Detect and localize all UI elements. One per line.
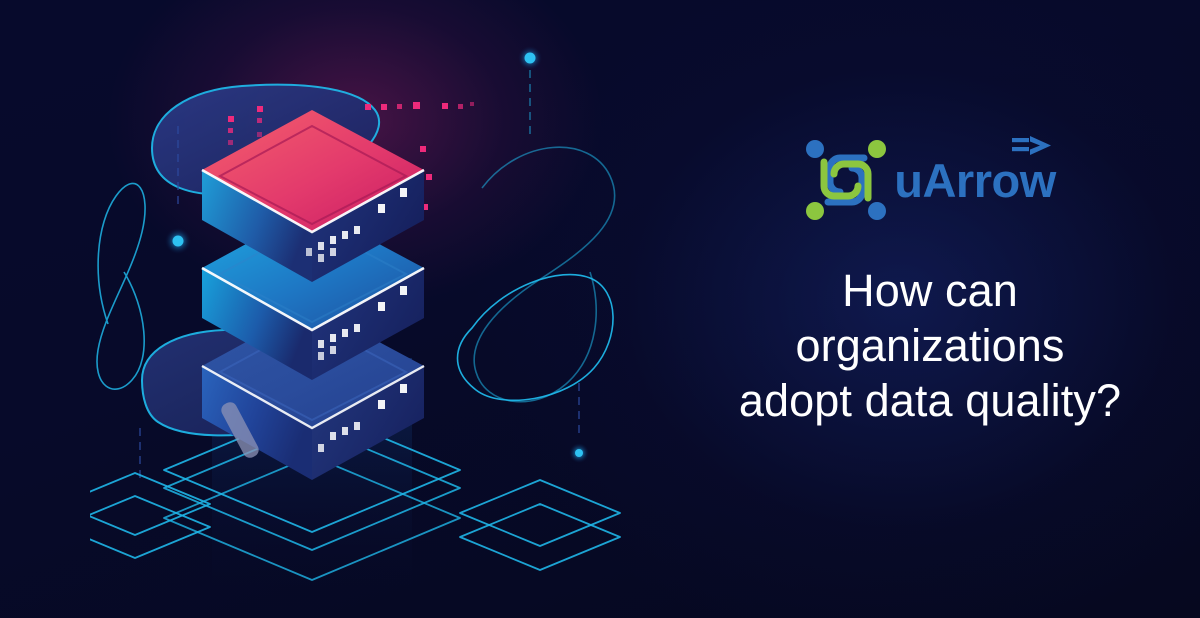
uarrow-logo-icon (804, 138, 888, 222)
logo-dot-top-right (868, 140, 886, 158)
glow-node-left (165, 228, 191, 254)
infinity-curve-right (458, 147, 615, 401)
logo-dot-bottom-left (806, 202, 824, 220)
logo-dot-bottom-right (868, 202, 886, 220)
outline-diamond-pair-right (460, 480, 620, 570)
brand-name: uArrow (894, 157, 1056, 204)
page-title: How can organizations adopt data quality… (680, 264, 1180, 429)
glow-node-bottom-right (569, 443, 589, 463)
content-column: uArrow How can organizations adopt data … (660, 0, 1200, 618)
brand-text-wrap: uArrow (894, 157, 1056, 204)
outline-diamond-pair-left (90, 473, 210, 558)
logo-dot-top-left (806, 140, 824, 158)
banner-root: uArrow How can organizations adopt data … (0, 0, 1200, 618)
glow-node-top-right (518, 46, 542, 138)
infinity-curve-left (97, 183, 145, 389)
arrow-glyph-icon (1011, 134, 1053, 158)
headline-line-3: adopt data quality? (680, 374, 1180, 429)
headline-line-1: How can (680, 264, 1180, 319)
headline-line-2: organizations (680, 319, 1180, 374)
brand-lockup[interactable]: uArrow (804, 138, 1056, 222)
isometric-data-stack-illustration (90, 28, 670, 598)
